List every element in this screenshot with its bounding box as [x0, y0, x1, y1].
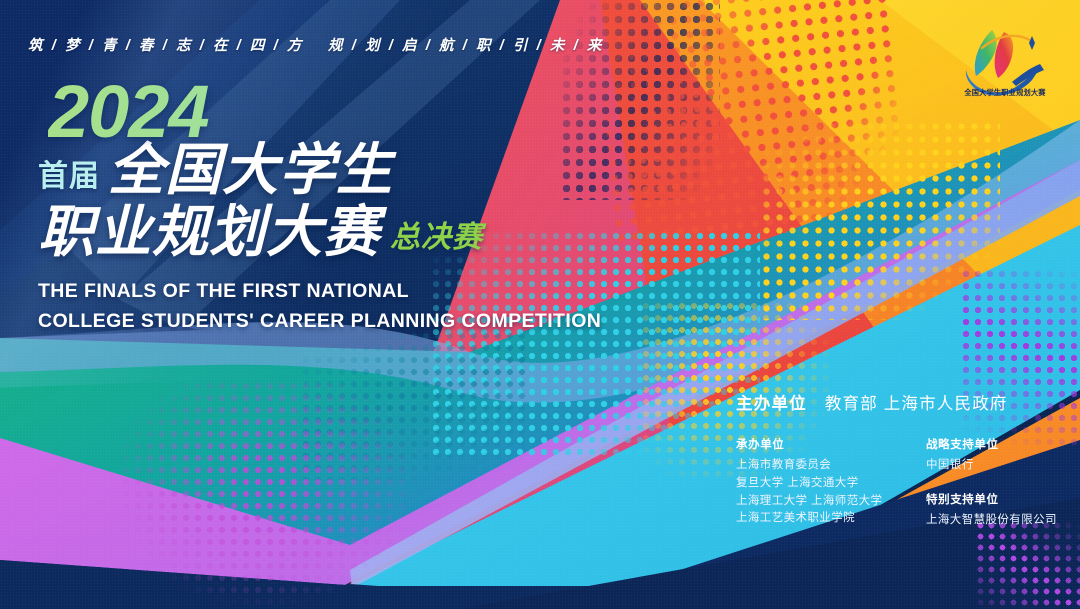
host-value: 教育部 上海市人民政府: [825, 390, 1008, 414]
strategic-support-label: 战略支持单位: [926, 436, 1080, 452]
host-label: 主办单位: [736, 390, 807, 414]
title-block: 2024 首届 全国大学生 职业规划大赛 总决赛 THE FINALS OF T…: [38, 78, 601, 337]
organizer-entry: 复旦大学 上海交通大学: [736, 475, 904, 493]
strategic-support-entry: 中国银行: [926, 457, 1080, 475]
title-row-2: 职业规划大赛 总决赛: [38, 204, 601, 260]
tagline: 筑 / 梦 / 青 / 春 / 志 / 在 / 四 / 方 规 / 划 / 启 …: [28, 34, 604, 55]
organizer-column: 承办单位 上海市教育委员会 复旦大学 上海交通大学 上海理工大学 上海师范大学 …: [736, 436, 904, 530]
special-support-entry: 上海大智慧股份有限公司: [926, 512, 1080, 530]
organizer-label: 承办单位: [736, 436, 904, 452]
english-subtitle: THE FINALS OF THE FIRST NATIONAL COLLEGE…: [38, 276, 601, 336]
tagline-right: 规 / 划 / 启 / 航 / 职 / 引 / 未 / 来: [328, 34, 604, 55]
tagline-left: 筑 / 梦 / 青 / 春 / 志 / 在 / 四 / 方: [28, 34, 304, 55]
english-subtitle-line-2: COLLEGE STUDENTS' CAREER PLANNING COMPET…: [38, 306, 601, 336]
organizer-entry: 上海工艺美术职业学院: [736, 510, 904, 528]
special-support-label: 特别支持单位: [926, 491, 1080, 507]
english-subtitle-line-1: THE FINALS OF THE FIRST NATIONAL: [38, 276, 601, 306]
organizer-entry: 上海市教育委员会: [736, 457, 904, 475]
column-spacer: [926, 475, 1080, 491]
support-column: 战略支持单位 中国银行 特别支持单位 上海大智慧股份有限公司: [926, 436, 1080, 530]
logo-caption: 全国大学生职业规划大赛: [952, 88, 1058, 98]
title-prefix-first-edition: 首届: [38, 162, 100, 198]
title-suffix-finals: 总决赛: [390, 223, 483, 260]
supporter-columns: 承办单位 上海市教育委员会 复旦大学 上海交通大学 上海理工大学 上海师范大学 …: [736, 436, 1080, 530]
poster-canvas: 筑 / 梦 / 青 / 春 / 志 / 在 / 四 / 方 规 / 划 / 启 …: [0, 0, 1080, 609]
title-main-line-2: 职业规划大赛: [38, 204, 380, 260]
organizer-info: 主办单位 教育部 上海市人民政府 承办单位 上海市教育委员会 复旦大学 上海交通…: [736, 390, 1080, 530]
host-row: 主办单位 教育部 上海市人民政府: [736, 390, 1080, 414]
year-2024: 2024: [48, 78, 601, 146]
competition-logo: 全国大学生职业规划大赛: [952, 24, 1058, 108]
organizer-entry: 上海理工大学 上海师范大学: [736, 493, 904, 511]
